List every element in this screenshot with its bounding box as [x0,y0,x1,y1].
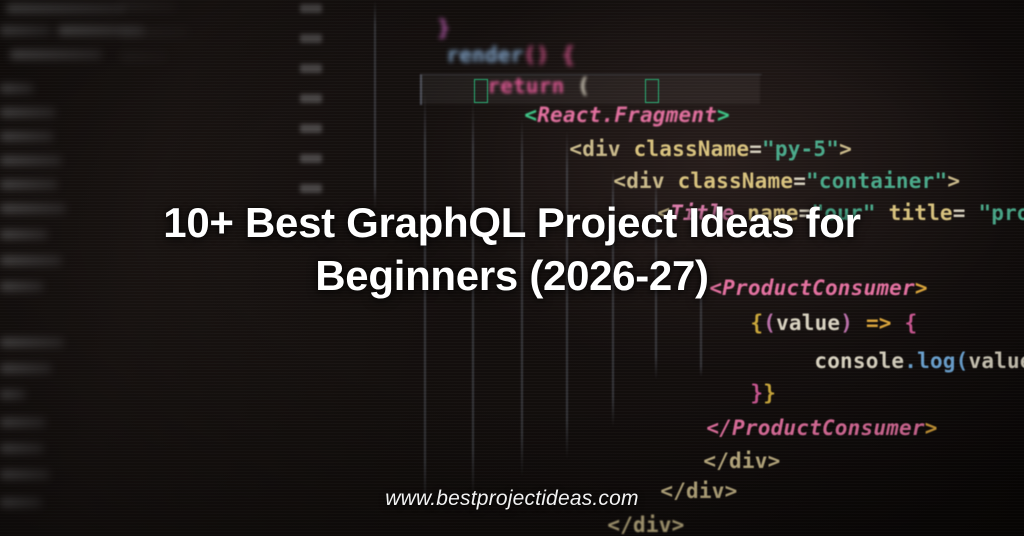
page-title: 10+ Best GraphQL Project Ideas for Begin… [0,196,1024,302]
code-token-gt: > [925,416,938,440]
title-line-1: 10+ Best GraphQL Project Ideas for [0,196,1024,249]
indent-guide [424,92,426,512]
code-token-log: log [917,349,956,373]
code-token-value-arg: value [969,349,1024,373]
code-token-console: console [814,349,904,373]
title-line-2: Beginners (2026-27) [0,249,1024,302]
code-line-console: console.log(value) [763,325,1024,397]
code-token-paren-open: ( [956,349,969,373]
site-watermark: www.bestprojectideas.com [0,487,1024,511]
code-token-brace-open: { [750,311,763,335]
featured-image-canvas: } render() { return ( <React.Fragment> <… [0,0,1024,536]
code-line-fragment-close: </React.Fragment> [504,514,774,536]
indent-guide [374,0,376,210]
code-token-dot: . [904,349,917,373]
